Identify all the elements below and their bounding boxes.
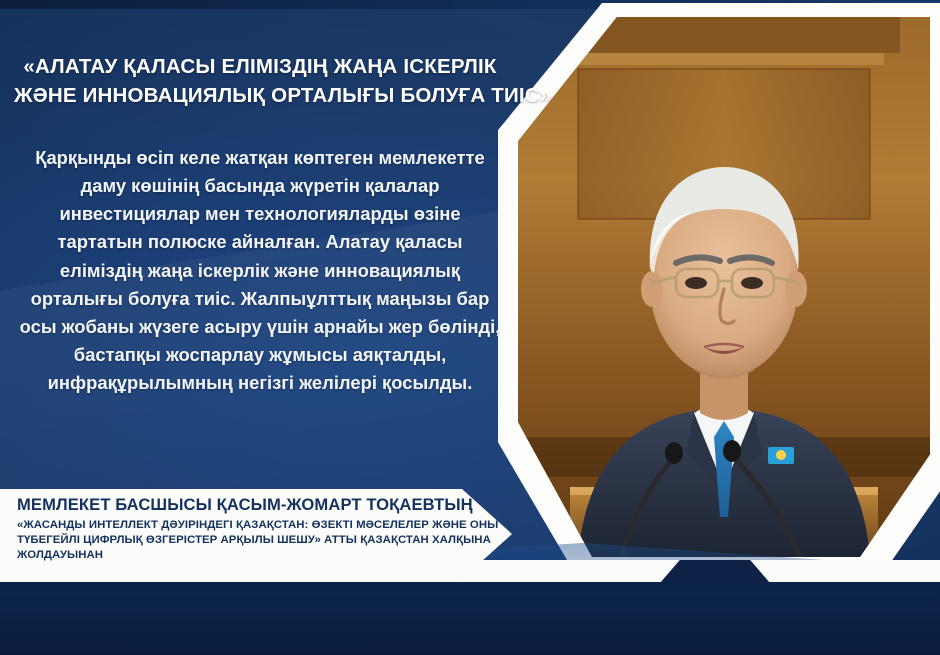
body-line-8: бастапқы жоспарлау жұмысы аяқталды, xyxy=(14,341,506,369)
portrait-photo xyxy=(518,17,930,557)
headline: «АЛАТАУ ҚАЛАСЫ ЕЛІМІЗДІҢ ЖАҢА ІСКЕРЛІК Ж… xyxy=(14,52,506,110)
body-line-7: осы жобаны жүзеге асыру үшін арнайы жер … xyxy=(14,313,506,341)
body-line-9: инфрақұрылымның негізгі желілері қосылды… xyxy=(14,369,506,397)
body-line-2: даму көшінің басында жүретін қалалар xyxy=(14,172,506,200)
caption-subtitle: «ЖАСАНДЫ ИНТЕЛЛЕКТ ДӘУІРІНДЕГІ ҚАЗАҚСТАН… xyxy=(17,518,457,564)
body-line-5: еліміздің жаңа іскерлік және инновациялы… xyxy=(14,257,506,285)
caption-content: МЕМЛЕКЕТ БАСШЫСЫ ҚАСЫМ-ЖОМАРТ ТОҚАЕВТЫҢ … xyxy=(0,489,457,563)
portrait-frame xyxy=(498,3,940,581)
body-line-4: тартатын полюске айналған. Алатау қаласы xyxy=(14,228,506,256)
body-line-1: Қарқынды өсіп келе жатқан көптеген мемле… xyxy=(14,144,506,172)
body-line-3: инвестициялар мен технологияларды өзіне xyxy=(14,200,506,228)
caption-subtitle-line-2: ТҮБЕГЕЙЛІ ЦИФРЛЫҚ ӨЗГЕРІСТЕР АРҚЫЛЫ ШЕШУ… xyxy=(17,533,457,548)
poster-canvas: «АЛАТАУ ҚАЛАСЫ ЕЛІМІЗДІҢ ЖАҢА ІСКЕРЛІК Ж… xyxy=(0,0,940,655)
headline-line-2: ЖӘНЕ ИННОВАЦИЯЛЫҚ ОРТАЛЫҒЫ БОЛУҒА ТИІС» xyxy=(14,81,506,110)
body-paragraph: Қарқынды өсіп келе жатқан көптеген мемле… xyxy=(14,144,506,397)
caption-banner: МЕМЛЕКЕТ БАСШЫСЫ ҚАСЫМ-ЖОМАРТ ТОҚАЕВТЫҢ … xyxy=(0,489,512,579)
caption-subtitle-line-1: «ЖАСАНДЫ ИНТЕЛЛЕКТ ДӘУІРІНДЕГІ ҚАЗАҚСТАН… xyxy=(17,518,457,533)
body-line-6: орталығы болуға тиіс. Жалпыұлттық маңызы… xyxy=(14,285,506,313)
caption-title: МЕМЛЕКЕТ БАСШЫСЫ ҚАСЫМ-ЖОМАРТ ТОҚАЕВТЫҢ xyxy=(17,496,457,515)
headline-line-1: «АЛАТАУ ҚАЛАСЫ ЕЛІМІЗДІҢ ЖАҢА ІСКЕРЛІК xyxy=(14,52,506,81)
caption-subtitle-line-3: ЖОЛДАУЫНАН xyxy=(17,548,457,563)
